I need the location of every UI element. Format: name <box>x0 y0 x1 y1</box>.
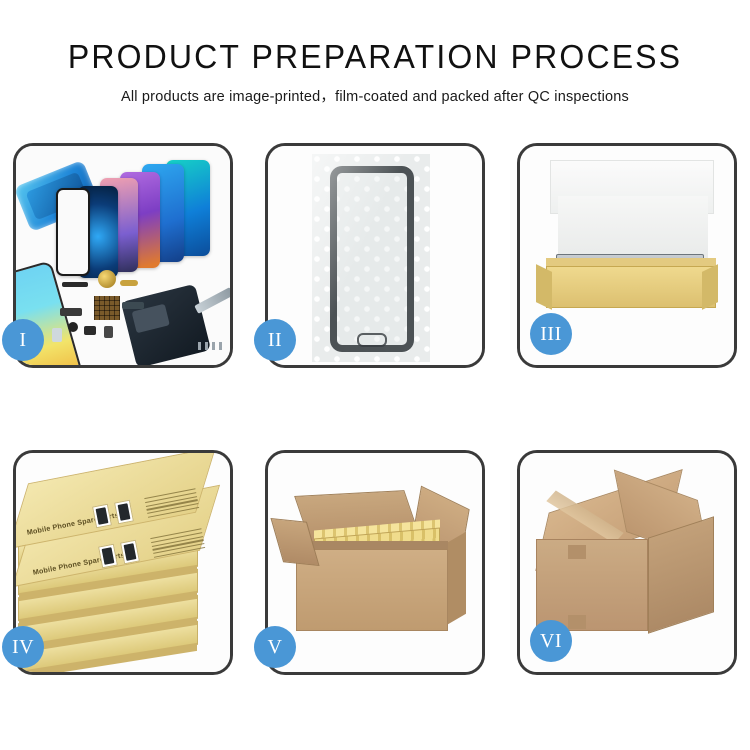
page-subtitle: All products are image-printed，film-coat… <box>0 85 750 106</box>
box-front-panel <box>546 266 716 308</box>
step-badge-3: III <box>530 313 572 355</box>
box-right-side <box>702 264 718 310</box>
carton-side-panel <box>448 532 466 624</box>
bubble-wrapped-screen-illustration <box>268 146 482 365</box>
speaker-part-icon <box>62 282 88 287</box>
carton-front-panel <box>296 549 448 631</box>
carton-flap-tab <box>568 615 586 629</box>
sim-tray-part-icon <box>52 328 62 342</box>
filled-carton-illustration <box>268 453 482 672</box>
vibrator-part-icon <box>104 326 113 338</box>
step-image-2 <box>268 146 482 365</box>
header: PRODUCT PREPARATION PROCESS All products… <box>0 0 750 106</box>
step-numeral-2: II <box>268 329 282 352</box>
stacked-boxes-illustration: Mobile Phone Spare Parts Mobile Phone Sp… <box>16 453 230 672</box>
film-sheen <box>312 154 430 362</box>
box-left-side <box>536 264 552 310</box>
page-title: PRODUCT PREPARATION PROCESS <box>11 38 739 76</box>
step-panel-6: VI <box>517 450 737 675</box>
step-image-1 <box>16 146 230 365</box>
step-panel-5: V <box>265 450 485 675</box>
step-badge-4: IV <box>2 626 44 668</box>
step-numeral-6: VI <box>540 630 562 653</box>
screws-icon <box>198 342 222 350</box>
carton-flap-tab <box>568 545 586 559</box>
phone-screen-glass-icon <box>56 188 90 276</box>
sensor-part-icon <box>122 302 144 309</box>
button-part-icon <box>68 322 78 332</box>
camera-module-icon <box>98 270 116 288</box>
step-badge-1: I <box>2 319 44 361</box>
chip-grid-icon <box>94 296 120 320</box>
step-numeral-3: III <box>540 323 561 346</box>
step-numeral-4: IV <box>12 636 34 659</box>
step-image-5 <box>268 453 482 672</box>
step-badge-5: V <box>254 626 296 668</box>
flex-cable-part-icon <box>60 308 82 316</box>
step-badge-2: II <box>254 319 296 361</box>
carton-side-panel <box>648 516 714 633</box>
connector-part-icon <box>84 326 96 335</box>
step-image-4: Mobile Phone Spare Parts Mobile Phone Sp… <box>16 453 230 672</box>
step-numeral-5: V <box>268 636 283 659</box>
gold-flex-part-icon <box>120 280 138 286</box>
phones-and-parts-illustration <box>16 146 230 365</box>
step-panel-2: II <box>265 143 485 368</box>
product-preparation-infographic: PRODUCT PREPARATION PROCESS All products… <box>0 0 750 750</box>
step-badge-6: VI <box>530 620 572 662</box>
step-numeral-1: I <box>19 329 26 352</box>
step-panel-1: I <box>13 143 233 368</box>
step-panel-3: III <box>517 143 737 368</box>
step-panel-4: Mobile Phone Spare Parts Mobile Phone Sp… <box>13 450 233 675</box>
steps-grid: I II <box>13 143 737 675</box>
carton-front-panel <box>536 539 648 631</box>
